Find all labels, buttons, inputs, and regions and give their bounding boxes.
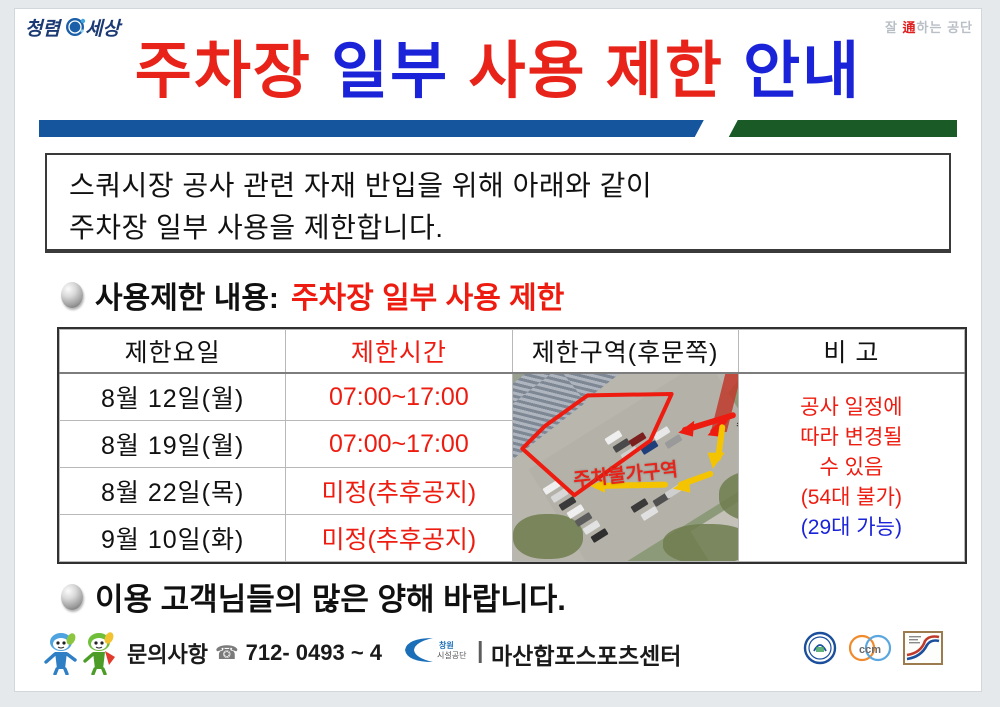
- remark-cell: 공사 일정에 따라 변경될 수 있음 (54대 불가) (29대 가능): [738, 373, 964, 562]
- slogan-prefix: 잘: [885, 20, 903, 35]
- remark-line: 공사 일정에: [739, 393, 964, 423]
- divider-blue-bar: [39, 120, 711, 137]
- poster-page: 청렴 세상 잘 通하는 공단 주차장 일부 사용 제한 안내 스쿼시장 공사 관…: [14, 8, 982, 692]
- restriction-table: 제한요일 제한시간 제한구역(후문쪽) 비 고 8월 12일(월) 07:00~…: [57, 327, 967, 564]
- divider-green-bar: [723, 120, 957, 137]
- remark-line: 수 있음: [739, 453, 964, 483]
- cell-time-3: 미정(추후공지): [286, 468, 512, 515]
- cell-time-2: 07:00~17:00: [286, 421, 512, 468]
- cell-date-4: 9월 10일(화): [60, 515, 286, 562]
- aerial-map: 주차불가구역 스쿼시장 입구: [513, 374, 738, 561]
- cell-time-1: 07:00~17:00: [286, 373, 512, 421]
- table-row: 8월 12일(월) 07:00~17:00: [60, 373, 965, 421]
- sphere-bullet-icon: [61, 282, 83, 308]
- title-word-3: 사용: [468, 37, 586, 106]
- detour-arrowhead: [707, 453, 724, 469]
- changwon-facilities-logo: 창원 시설공단: [399, 633, 475, 672]
- inquiry-label: 문의사항: [127, 637, 208, 669]
- slogan: 잘 通하는 공단: [885, 17, 973, 36]
- cell-date-2: 8월 19일(월): [60, 421, 286, 468]
- contact-info: 문의사항 ☎ 712- 0493 ~ 4: [127, 637, 382, 669]
- svg-text:시설공단: 시설공단: [437, 650, 467, 660]
- remark-line-available: (29대 가능): [739, 513, 964, 543]
- section-heading: 사용제한 내용: 주차장 일부 사용 제한: [61, 273, 564, 317]
- section-highlight: 주차장 일부 사용 제한: [291, 273, 564, 317]
- quality-seal-badge-icon: [803, 631, 837, 665]
- map-vegetation: [663, 524, 738, 561]
- remark-line: 따라 변경될: [739, 423, 964, 453]
- title-word-5: 안내: [743, 37, 861, 106]
- svg-text:창원: 창원: [439, 640, 454, 650]
- telephone-icon: ☎: [215, 642, 239, 665]
- col-header-area: 제한구역(후문쪽): [512, 330, 738, 374]
- closing-message: 이용 고객님들의 많은 양해 바랍니다.: [61, 574, 566, 619]
- svg-text:세상: 세상: [85, 18, 123, 40]
- table-header-row: 제한요일 제한시간 제한구역(후문쪽) 비 고: [60, 330, 965, 374]
- blue-mascot-icon: [46, 632, 77, 674]
- aerial-map-cell: 주차불가구역 스쿼시장 입구: [512, 373, 738, 562]
- remark-line-unavailable: (54대 불가): [739, 483, 964, 513]
- center-name: 마산합포스포츠센터: [491, 637, 681, 671]
- title-word-4: 제한: [606, 37, 724, 106]
- footer: 문의사항 ☎ 712- 0493 ~ 4 창원 시설공단 | 마산합포스포츠센터: [39, 627, 957, 679]
- notice-box: 스쿼시장 공사 관련 자재 반입을 위해 아래와 같이 주차장 일부 사용을 제…: [45, 153, 951, 253]
- col-header-remark: 비 고: [738, 330, 964, 374]
- cell-date-1: 8월 12일(월): [60, 373, 286, 421]
- certificate-badge-icon: [903, 631, 943, 665]
- green-mascot-icon: [85, 631, 115, 674]
- footer-separator: |: [477, 637, 483, 664]
- site-entrance-label: 스쿼시장 입구: [737, 418, 738, 429]
- page-title: 주차장 일부 사용 제한 안내: [15, 41, 981, 103]
- mascot-characters: [43, 629, 123, 680]
- slogan-suffix: 하는 공단: [917, 20, 973, 35]
- slogan-accent: 通: [903, 20, 917, 35]
- certification-badges: ccm: [803, 631, 943, 665]
- title-word-2: 일부: [331, 37, 449, 106]
- cell-time-4: 미정(추후공지): [286, 515, 512, 562]
- notice-line-2: 주차장 일부 사용을 제한합니다.: [69, 207, 931, 249]
- svg-text:청렴: 청렴: [25, 18, 62, 40]
- notice-line-1: 스쿼시장 공사 관련 자재 반입을 위해 아래와 같이: [69, 165, 931, 207]
- ccm-badge-label: ccm: [859, 644, 881, 656]
- closing-text: 이용 고객님들의 많은 양해 바랍니다.: [95, 574, 566, 619]
- header-divider: [39, 120, 957, 137]
- phone-number: 712- 0493 ~ 4: [246, 640, 382, 666]
- col-header-time: 제한시간: [286, 330, 512, 374]
- col-header-date: 제한요일: [60, 330, 286, 374]
- title-word-1: 주차장: [135, 37, 312, 106]
- cell-date-3: 8월 22일(목): [60, 468, 286, 515]
- map-vegetation: [513, 514, 583, 559]
- ccm-badge-icon: ccm: [847, 633, 893, 663]
- sphere-bullet-icon: [61, 584, 83, 610]
- section-label: 사용제한 내용:: [95, 273, 279, 317]
